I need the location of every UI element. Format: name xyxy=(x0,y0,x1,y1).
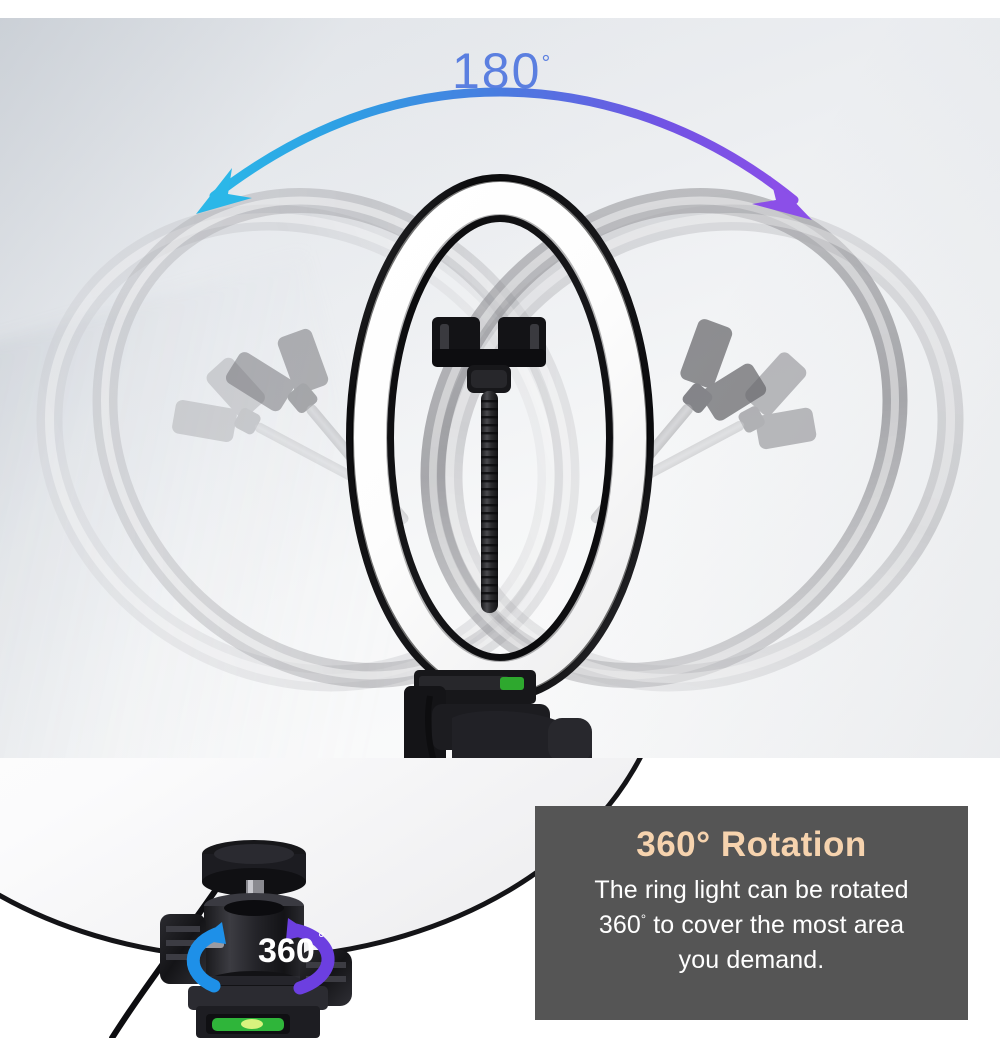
feature-description: The ring light can be rotated 360° to co… xyxy=(549,873,954,978)
feature-title: 360° Rotation xyxy=(549,824,954,865)
description-line-2: 360° to cover the most area xyxy=(549,908,954,943)
description-line-2-post: to cover the most area xyxy=(646,911,904,939)
ball-head-360-label: 360 xyxy=(258,932,315,970)
ball-head-degree-symbol: ° xyxy=(318,929,325,948)
description-line-3: you demand. xyxy=(549,943,954,978)
feature-graphic-page: 180° xyxy=(0,0,1000,1038)
tripod-base-plate xyxy=(188,986,328,1038)
arrow-head-right xyxy=(752,176,812,220)
bubble-level-top xyxy=(500,677,524,690)
rotation-arc-arrow xyxy=(0,18,1000,278)
top-rotation-scene: 180° xyxy=(0,18,1000,758)
description-line-2-pre: 360 xyxy=(599,911,641,939)
feature-info-panel: 360° Rotation The ring light can be rota… xyxy=(535,806,968,1020)
description-line-1: The ring light can be rotated xyxy=(549,873,954,908)
ring-light-base-mount xyxy=(404,670,592,758)
